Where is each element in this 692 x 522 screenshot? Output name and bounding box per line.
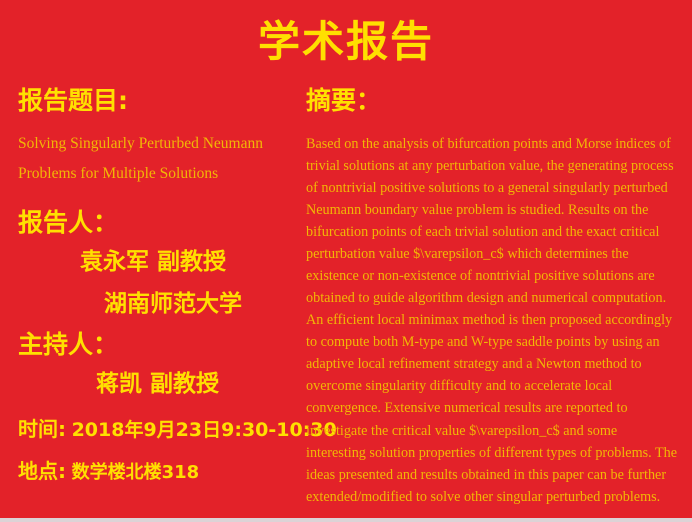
seminar-poster: 学术报告 报告题目: Solving Singularly Perturbed … — [0, 0, 692, 522]
topic-title-line-2: Problems for Multiple Solutions — [18, 159, 306, 189]
host-name: 蒋凯 副教授 — [18, 370, 306, 399]
location-row: 地点: 数学楼北楼318 — [18, 455, 306, 484]
topic-heading: 报告题目: — [18, 86, 306, 117]
speaker-affiliation: 湖南师范大学 — [18, 290, 306, 319]
details-column: 报告题目: Solving Singularly Perturbed Neuma… — [18, 86, 306, 484]
abstract-heading: 摘要： — [306, 86, 678, 117]
location-label: 地点: — [18, 459, 66, 483]
abstract-column: 摘要： Based on the analysis of bifurcation… — [306, 86, 678, 508]
time-label: 时间: — [18, 417, 66, 441]
speaker-heading: 报告人： — [18, 208, 306, 239]
location-value: 数学楼北楼318 — [72, 462, 200, 483]
time-row: 时间: 2018年9月23日9:30-10:30 — [18, 413, 306, 442]
host-heading: 主持人： — [18, 330, 306, 361]
abstract-text: Based on the analysis of bifurcation poi… — [306, 133, 678, 508]
bottom-strip — [0, 518, 692, 522]
topic-title: Solving Singularly Perturbed Neumann Pro… — [18, 129, 306, 189]
topic-title-line-1: Solving Singularly Perturbed Neumann — [18, 129, 306, 159]
page-title: 学术报告 — [0, 17, 692, 67]
time-value: 2018年9月23日9:30-10:30 — [72, 419, 337, 441]
speaker-name: 袁永军 副教授 — [18, 248, 306, 277]
